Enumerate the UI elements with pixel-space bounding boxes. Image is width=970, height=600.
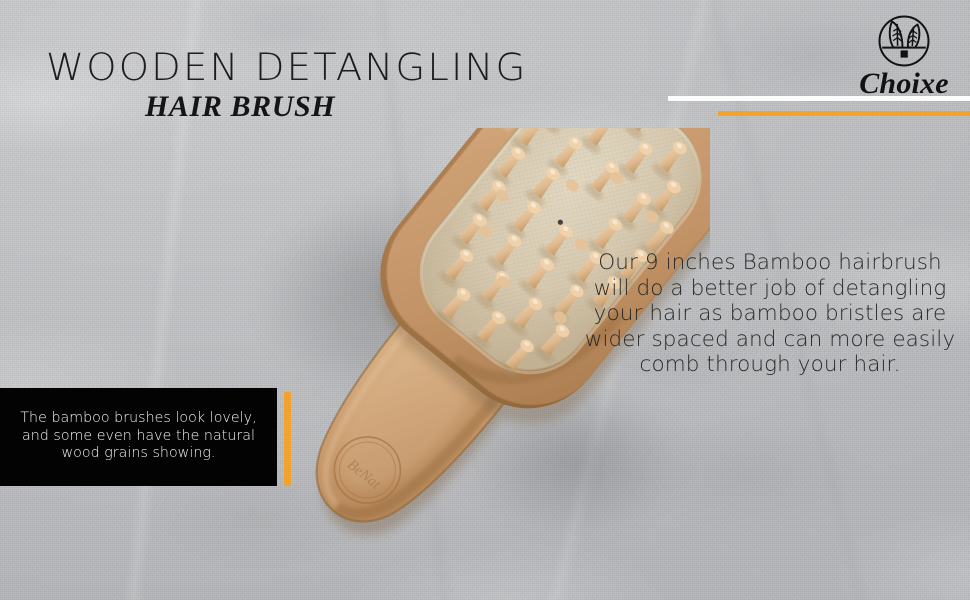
page-title-line1: WOODEN DETANGLING [46, 49, 528, 86]
leaf-circle-logo-icon [877, 14, 931, 68]
divider-white [668, 96, 970, 101]
product-description: Our 9 inches Bamboo hairbrush will do a … [580, 250, 960, 378]
caption-text: The bamboo brushes look lovely, and some… [14, 410, 263, 463]
caption-accent-bar [284, 392, 291, 486]
brand-lockup: Choixe [845, 14, 963, 94]
divider-orange [718, 111, 970, 116]
caption-panel: The bamboo brushes look lovely, and some… [0, 388, 277, 486]
page-title-line2: HAIR BRUSH [145, 92, 335, 122]
poster-canvas: WOODEN DETANGLING HAIR BRUSH Choixe [0, 0, 970, 600]
